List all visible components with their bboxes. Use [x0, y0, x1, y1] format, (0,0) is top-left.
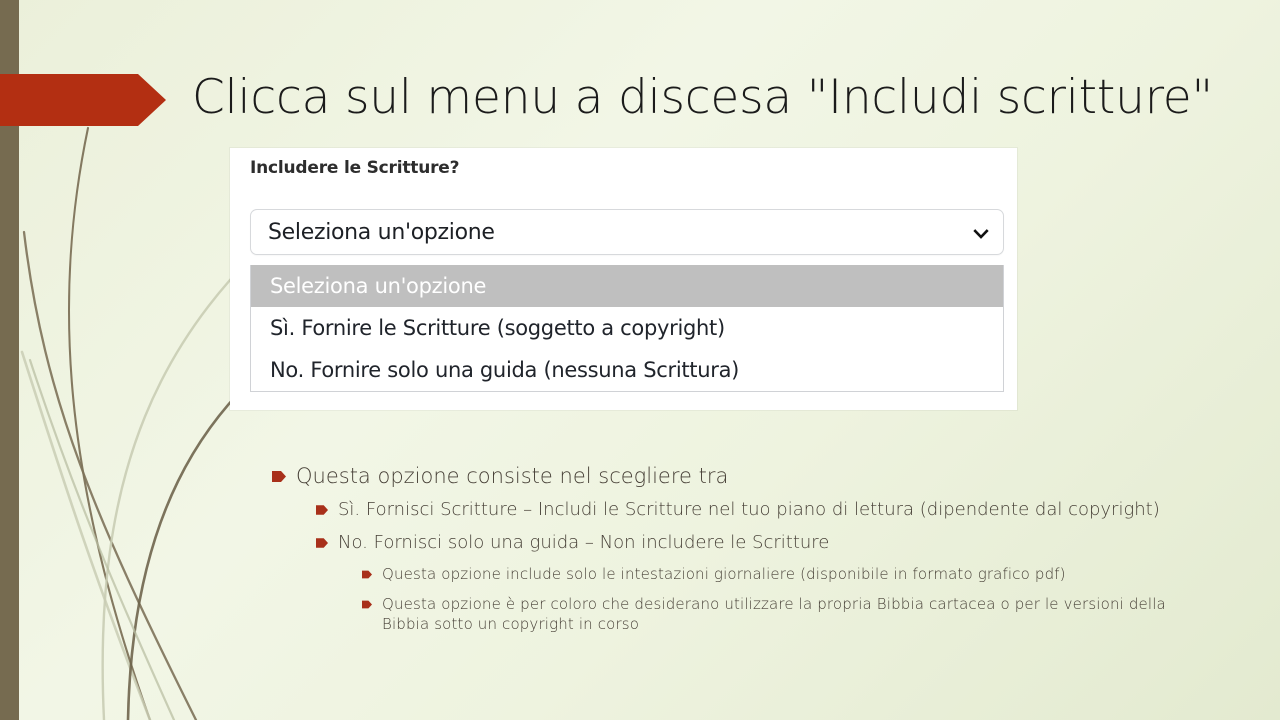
bullet-level2: Sì. Fornisci Scritture – Includi le Scri…	[316, 498, 1192, 522]
bullet-level2: No. Fornisci solo una guida – Non includ…	[316, 531, 1192, 555]
select-option[interactable]: Seleziona un'opzione	[251, 265, 1003, 307]
bullet-text: Sì. Fornisci Scritture – Includi le Scri…	[338, 498, 1192, 522]
chevron-down-icon[interactable]	[973, 226, 989, 242]
arrow-bullet-icon	[272, 471, 286, 482]
include-scriptures-select[interactable]: Seleziona un'opzione	[250, 209, 1004, 255]
screenshot-card: Includere le Scritture? Seleziona un'opz…	[230, 148, 1017, 410]
page-title: Clicca sul menu a discesa "Includi scrit…	[192, 68, 1252, 128]
arrow-bullet-icon	[362, 600, 372, 609]
select-option[interactable]: Sì. Fornire le Scritture (soggetto a cop…	[251, 307, 1003, 349]
bullet-level3: Questa opzione include solo le intestazi…	[362, 564, 1192, 584]
arrow-bullet-icon	[316, 505, 328, 515]
bullet-level1: Questa opzione consiste nel scegliere tr…	[272, 462, 1192, 490]
slide-canvas: Clicca sul menu a discesa "Includi scrit…	[0, 0, 1280, 720]
bullet-list: Questa opzione consiste nel scegliere tr…	[272, 462, 1192, 644]
arrow-bullet-icon	[316, 538, 328, 548]
arrow-bullet-icon	[362, 570, 372, 579]
bullet-text: Questa opzione include solo le intestazi…	[382, 564, 1192, 584]
bullet-level3: Questa opzione è per coloro che desidera…	[362, 594, 1192, 634]
bullet-text: Questa opzione è per coloro che desidera…	[382, 594, 1192, 634]
bullet-text: No. Fornisci solo una guida – Non includ…	[338, 531, 1192, 555]
include-scriptures-label: Includere le Scritture?	[250, 158, 459, 178]
bullet-text: Questa opzione consiste nel scegliere tr…	[296, 462, 1192, 490]
title-accent-arrow	[0, 74, 166, 126]
select-selected-value: Seleziona un'opzione	[268, 220, 495, 245]
select-option-list[interactable]: Seleziona un'opzione Sì. Fornire le Scri…	[250, 265, 1004, 392]
select-option[interactable]: No. Fornire solo una guida (nessuna Scri…	[251, 349, 1003, 391]
